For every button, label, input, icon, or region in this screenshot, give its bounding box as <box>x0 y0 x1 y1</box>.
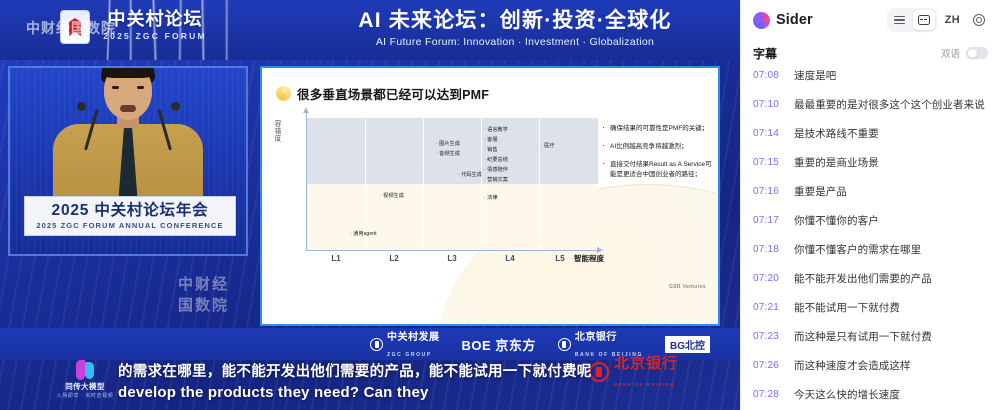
data-point: 销售 <box>484 146 498 154</box>
transcript-row[interactable]: 07:20 能不能开发出他们需要的产品 <box>741 269 1000 298</box>
subtitle-line-cn: 的需求在哪里，能不能开发出他们需要的产品，能不能试用一下就付费呢 <box>118 360 592 381</box>
transcript-timestamp: 07:18 <box>753 240 785 260</box>
transcript-timestamp: 07:23 <box>753 327 785 347</box>
gear-icon <box>973 14 985 26</box>
slide-bullet: 直接交付结果Result as A Service可能是更适合中国创业者的路径； <box>602 160 712 180</box>
transcript-text: 是技术路线不重要 <box>794 124 879 144</box>
transcript-row[interactable]: 07:21 能不能试用一下就付费 <box>741 298 1000 327</box>
sider-panel: Sider ZH 字幕 双语 07:08 速度是吧 <box>740 0 1000 410</box>
slide-bullet: AI比例越高竞争将越激烈； <box>602 142 712 152</box>
transcript-row[interactable]: 07:15 重要的是商业场景 <box>741 153 1000 182</box>
sider-brand[interactable]: Sider <box>753 12 813 29</box>
data-point: 音频生成 <box>436 150 460 158</box>
transcript-text: 能不能试用一下就付费 <box>794 298 900 318</box>
slide-bullet: 确保结果的可靠性是PMF的关键； <box>602 124 712 134</box>
bank-of-beijing-icon <box>558 338 571 351</box>
x-tick-l5: L5 <box>555 254 564 263</box>
x-tick-l4: L4 <box>505 254 514 263</box>
transcript-text: 速度是吧 <box>794 66 836 86</box>
settings-button[interactable] <box>968 9 990 31</box>
x-axis <box>306 250 598 251</box>
subtitle-logo-cn: 同传大模型 <box>56 381 114 392</box>
transcript-timestamp: 07:26 <box>753 356 785 376</box>
sponsor-zgc-group: 中关村发展 ZGC GROUP <box>370 328 440 360</box>
sponsor-name-cn: BOE 京东方 <box>462 335 536 354</box>
sponsor-name-cn: 中关村发展 <box>387 332 440 343</box>
data-point: 语言教学 <box>484 126 508 134</box>
subtitle-logo-sub: 入场即享 · 实时音视频 <box>56 392 114 400</box>
slide-credit: GSR Ventures <box>669 284 706 290</box>
pmf-scatter-chart: 容错度 L1 L2 L3 L4 L5 智能程度 图片生成 音频生成 语言教学 <box>288 112 598 264</box>
transcript-text: 而这种是只有试用一下就付费 <box>794 327 932 347</box>
transcript-timestamp: 07:14 <box>753 124 785 144</box>
y-axis <box>306 112 307 250</box>
hamburger-icon <box>894 14 905 26</box>
data-point: 营销文案 <box>484 176 508 184</box>
y-axis-label: 容错度 <box>272 120 281 143</box>
transcript-row[interactable]: 07:10 最最重要的是对很多这个这个创业者来说 <box>741 95 1000 124</box>
subtitle-view-button[interactable] <box>913 10 935 30</box>
transcript-row[interactable]: 07:16 重要是产品 <box>741 182 1000 211</box>
data-point: 情感陪伴 <box>484 166 508 174</box>
view-mode-toggle-group[interactable] <box>887 8 937 32</box>
data-point: 通用agent <box>350 230 377 238</box>
transcript-row[interactable]: 07:14 是技术路线不重要 <box>741 124 1000 153</box>
forum-title: AI 未来论坛：创新·投资·全球化 AI Future Forum: Innov… <box>300 8 730 50</box>
transcript-timestamp: 07:17 <box>753 211 785 231</box>
transcript-list[interactable]: 07:08 速度是吧 07:10 最最重要的是对很多这个这个创业者来说 07:1… <box>741 66 1000 410</box>
zgc-group-icon <box>370 338 383 351</box>
transcript-text: 今天这么快的增长速度 <box>794 385 900 405</box>
x-tick-l2: L2 <box>389 254 398 263</box>
sider-header-tools: ZH <box>887 8 990 32</box>
data-point: 法律 <box>484 194 498 202</box>
sponsor-name-cn: BG北控 <box>665 336 710 353</box>
podium-sign-cn: 2025 中关村论坛年会 <box>52 201 209 220</box>
data-point: 代码生成 <box>458 171 482 179</box>
x-tick-l1: L1 <box>331 254 340 263</box>
presentation-slide: 很多垂直场景都已经可以达到PMF 容错度 L1 L2 L3 L4 L5 智能程度 <box>260 66 720 326</box>
chart-band-low <box>307 184 598 250</box>
podium-sign-en: 2025 ZGC FORUM ANNUAL CONFERENCE <box>36 220 223 231</box>
data-point: 医疗 <box>541 142 555 150</box>
forum-title-cn: AI 未来论坛：创新·投资·全球化 <box>300 8 730 34</box>
sun-icon <box>276 86 291 101</box>
transcript-row[interactable]: 07:28 今天这么快的增长速度 <box>741 385 1000 410</box>
bilingual-toggle-row[interactable]: 双语 <box>941 46 988 60</box>
sponsor-name-cn: 北京银行 <box>575 332 617 343</box>
transcript-text: 重要是产品 <box>794 182 847 202</box>
sider-header: Sider ZH <box>741 0 1000 40</box>
podium-sign: 2025 中关村论坛年会 2025 ZGC FORUM ANNUAL CONFE… <box>24 196 236 236</box>
transcript-timestamp: 07:21 <box>753 298 785 318</box>
slide-bullet-list: 确保结果的可靠性是PMF的关键； AI比例越高竞争将越激烈； 直接交付结果Res… <box>602 124 712 188</box>
iflytek-translation-logo: 同传大模型 入场即享 · 实时音视频 <box>56 360 114 408</box>
data-point: 图片生成 <box>436 140 460 148</box>
sider-brand-name: Sider <box>776 12 813 28</box>
transcript-row[interactable]: 07:26 而这种速度才会造成这样 <box>741 356 1000 385</box>
closed-caption-icon <box>918 15 930 25</box>
watermark-top: 中财经国数院 <box>26 18 116 38</box>
transcript-timestamp: 07:10 <box>753 95 785 115</box>
transcript-text: 重要的是商业场景 <box>794 153 879 173</box>
transcript-text: 而这种速度才会造成这样 <box>794 356 911 376</box>
speaker-camera-view: 2025 中关村论坛年会 2025 ZGC FORUM ANNUAL CONFE… <box>8 66 248 256</box>
transcript-text: 你懂不懂客户的需求在哪里 <box>794 240 921 260</box>
bilingual-label: 双语 <box>941 46 960 60</box>
transcript-text: 能不能开发出他们需要的产品 <box>794 269 932 289</box>
iflytek-drop-icon <box>76 360 94 380</box>
data-point: 视频生成 <box>380 192 404 200</box>
list-view-button[interactable] <box>889 10 911 30</box>
data-point: 纪要总结 <box>484 156 508 164</box>
slide-title: 很多垂直场景都已经可以达到PMF <box>297 84 489 103</box>
transcript-row[interactable]: 07:17 你懂不懂你的客户 <box>741 211 1000 240</box>
transcript-row[interactable]: 07:08 速度是吧 <box>741 66 1000 95</box>
transcript-timestamp: 07:15 <box>753 153 785 173</box>
transcript-row[interactable]: 07:18 你懂不懂客户的需求在哪里 <box>741 240 1000 269</box>
bilingual-toggle[interactable] <box>966 47 988 59</box>
transcript-timestamp: 07:20 <box>753 269 785 289</box>
transcript-text: 你懂不懂你的客户 <box>794 211 879 231</box>
watermark-right: 中财经国数院 <box>178 274 229 316</box>
subtitle-line-en: develop the products they need? Can they <box>118 384 429 401</box>
language-button[interactable]: ZH <box>940 14 965 26</box>
sponsor-bg: BG北控 <box>665 336 710 353</box>
transcript-text: 最最重要的是对很多这个这个创业者来说 <box>794 95 985 115</box>
x-tick-l3: L3 <box>447 254 456 263</box>
video-player[interactable]: 中关村论坛 2025 ZGC FORUM AI 未来论坛：创新·投资·全球化 A… <box>0 0 740 410</box>
video-subtitle-overlay: 同传大模型 入场即享 · 实时音视频 的需求在哪里，能不能开发出他们需要的产品，… <box>0 358 740 410</box>
transcript-row[interactable]: 07:23 而这种是只有试用一下就付费 <box>741 327 1000 356</box>
forum-title-en: AI Future Forum: Innovation · Investment… <box>300 34 730 50</box>
sponsor-boe: BOE 京东方 <box>462 335 536 354</box>
data-point: 客服 <box>484 136 498 144</box>
subtitles-title: 字幕 <box>753 45 777 62</box>
transcript-timestamp: 07:16 <box>753 182 785 202</box>
transcript-timestamp: 07:08 <box>753 66 785 86</box>
x-axis-label: 智能程度 <box>574 253 604 264</box>
slide-title-row: 很多垂直场景都已经可以达到PMF <box>276 84 489 103</box>
subtitles-section-header: 字幕 双语 <box>741 40 1000 66</box>
transcript-timestamp: 07:28 <box>753 385 785 405</box>
sider-brain-logo-icon <box>753 12 770 29</box>
